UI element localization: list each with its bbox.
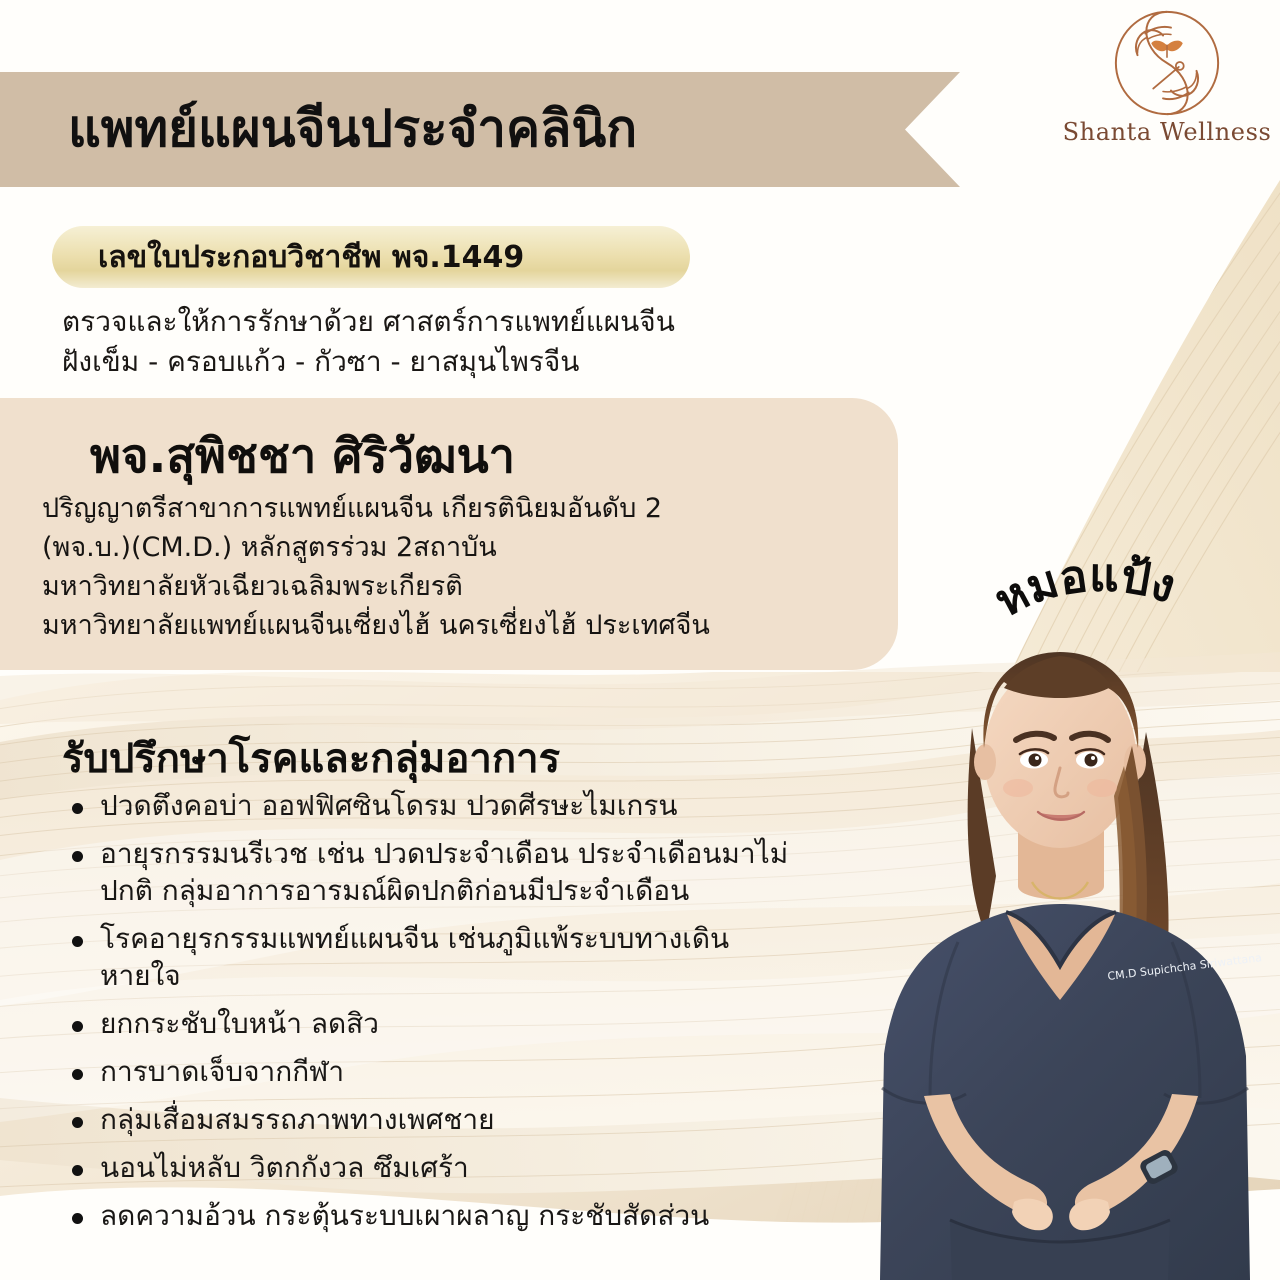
credential-line: มหาวิทยาลัยหัวเฉียวเฉลิมพระเกียรติ [42, 568, 902, 607]
svg-text:หมอแป้ง: หมอแป้ง [985, 548, 1182, 627]
credential-line: มหาวิทยาลัยแพทย์แผนจีนเซี่ยงไฮ้ นครเซี่ย… [42, 607, 902, 646]
poster-canvas: แพทย์แผนจีนประจำคลินิก Shanta Wellne [0, 0, 1280, 1280]
service-line: กลุ่มเสื่อมสมรรถภาพทางเพศชาย [100, 1102, 912, 1139]
nickname-text: หมอแป้ง [985, 548, 1182, 627]
services-list: ปวดตึงคอบ่า ออฟฟิศซินโดรม ปวดศีรษะไมเกรน… [62, 788, 912, 1246]
license-number-label: เลขใบประกอบวิชาชีพ พจ.1449 [98, 234, 524, 281]
license-badge: เลขใบประกอบวิชาชีพ พจ.1449 [52, 226, 690, 288]
service-line: ยกกระชับใบหน้า ลดสิว [100, 1006, 912, 1043]
doctor-photo: CM.D Supichcha Siriwattana [846, 636, 1280, 1280]
treatment-intro: ตรวจและให้การรักษาด้วย ศาสตร์การแพทย์แผน… [62, 302, 882, 382]
list-item: ยกกระชับใบหน้า ลดสิว [62, 1006, 912, 1043]
doctor-name: พจ.สุพิชชา ศิริวัฒนา [90, 418, 515, 493]
service-line: ปกติ กลุ่มอาการอารมณ์ผิดปกติก่อนมีประจำเ… [100, 873, 912, 910]
intro-line-2: ฝังเข็ม - ครอบแก้ว - กัวซา - ยาสมุนไพรจี… [62, 342, 882, 382]
service-line: ลดความอ้วน กระตุ้นระบบเผาผลาญ กระชับสัดส… [100, 1198, 912, 1235]
brand-logo: Shanta Wellness [1072, 4, 1262, 172]
list-item: การบาดเจ็บจากกีฬา [62, 1054, 912, 1091]
credential-line: ปริญญาตรีสาขาการแพทย์แผนจีน เกียรตินิยมอ… [42, 490, 902, 529]
services-heading: รับปรึกษาโรคและกลุ่มอาการ [62, 726, 560, 790]
service-line: ปวดตึงคอบ่า ออฟฟิศซินโดรม ปวดศีรษะไมเกรน [100, 788, 912, 825]
list-item: ลดความอ้วน กระตุ้นระบบเผาผลาญ กระชับสัดส… [62, 1198, 912, 1235]
yin-yang-hands-leaf-needle-icon [1108, 4, 1226, 122]
service-line: นอนไม่หลับ วิตกกังวล ซึมเศร้า [100, 1150, 912, 1187]
service-line: โรคอายุรกรรมแพทย์แผนจีน เช่นภูมิแพ้ระบบท… [100, 921, 912, 958]
service-line: อายุรกรรมนรีเวช เช่น ปวดประจำเดือน ประจำ… [100, 836, 912, 873]
doctor-credentials: ปริญญาตรีสาขาการแพทย์แผนจีน เกียรตินิยมอ… [42, 490, 902, 646]
intro-line-1: ตรวจและให้การรักษาด้วย ศาสตร์การแพทย์แผน… [62, 302, 882, 342]
service-line: หายใจ [100, 958, 912, 995]
credential-line: (พจ.บ.)(CM.D.) หลักสูตรร่วม 2สถาบัน [42, 529, 902, 568]
page-title: แพทย์แผนจีนประจำคลินิก [68, 104, 637, 155]
list-item: ปวดตึงคอบ่า ออฟฟิศซินโดรม ปวดศีรษะไมเกรน [62, 788, 912, 825]
list-item: นอนไม่หลับ วิตกกังวล ซึมเศร้า [62, 1150, 912, 1187]
header-ribbon: แพทย์แผนจีนประจำคลินิก [0, 72, 960, 187]
brand-name: Shanta Wellness [1063, 118, 1272, 146]
service-line: การบาดเจ็บจากกีฬา [100, 1054, 912, 1091]
list-item: อายุรกรรมนรีเวช เช่น ปวดประจำเดือน ประจำ… [62, 836, 912, 910]
list-item: กลุ่มเสื่อมสมรรถภาพทางเพศชาย [62, 1102, 912, 1139]
list-item: โรคอายุรกรรมแพทย์แผนจีน เช่นภูมิแพ้ระบบท… [62, 921, 912, 995]
